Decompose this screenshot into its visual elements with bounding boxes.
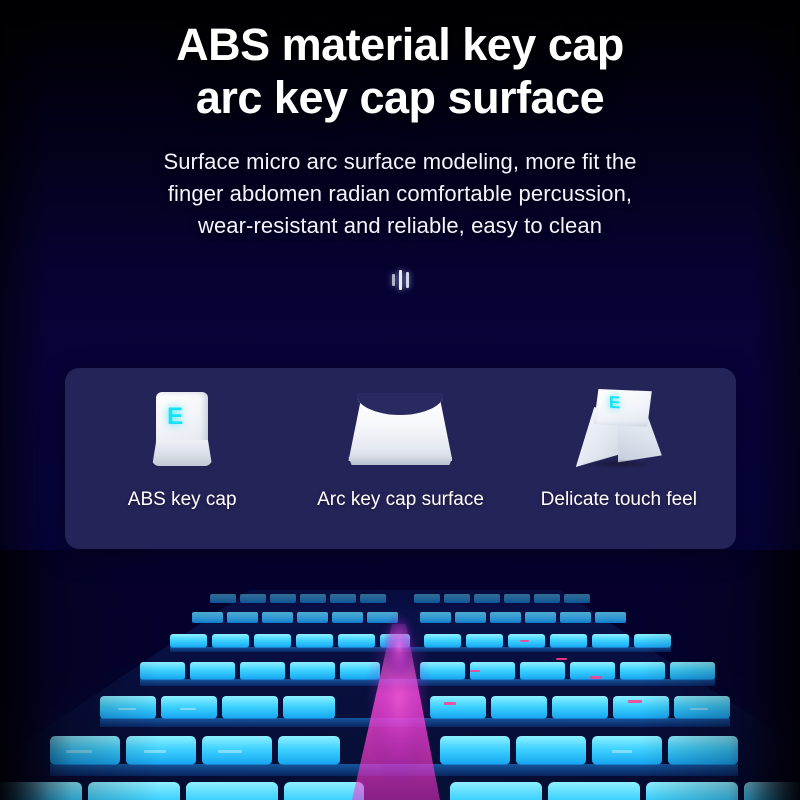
- feature-card: E ABS key cap Arc key cap surface: [65, 368, 736, 549]
- subtitle-line-3: wear-resistant and reliable, easy to cle…: [0, 210, 800, 242]
- feature-item-abs-key-cap: E ABS key cap: [73, 386, 291, 535]
- keycap-skirt: [152, 440, 212, 466]
- feature-label: Arc key cap surface: [317, 488, 484, 512]
- feature-item-arc-key-cap-surface: Arc key cap surface: [291, 386, 509, 535]
- promo-page: ABS material key cap arc key cap surface…: [0, 0, 800, 800]
- subtitle-line-1: Surface micro arc surface modeling, more…: [0, 146, 800, 178]
- three-bars-separator-icon: [383, 268, 417, 292]
- title-line-2: arc key cap surface: [0, 71, 800, 124]
- feature-label: ABS key cap: [128, 488, 237, 512]
- keycap-legend: E: [609, 394, 620, 412]
- separator-bar-1: [392, 274, 395, 286]
- hero-section: ABS material key cap arc key cap surface…: [0, 0, 800, 242]
- keycap-perspective-with-E-legend-icon: E: [510, 386, 728, 472]
- keycap-shadow: [580, 459, 656, 469]
- keyboard-photo: [0, 550, 800, 800]
- keycap-arc-surface-elevation-icon: [291, 386, 509, 472]
- page-title: ABS material key cap arc key cap surface: [0, 18, 800, 124]
- page-subtitle: Surface micro arc surface modeling, more…: [0, 146, 800, 242]
- separator-bar-2: [399, 270, 402, 290]
- separator-bar-3: [406, 272, 409, 288]
- subtitle-line-2: finger abdomen radian comfortable percus…: [0, 178, 800, 210]
- feature-label: Delicate touch feel: [541, 488, 697, 512]
- title-line-1: ABS material key cap: [0, 18, 800, 71]
- keycap-front-white-with-E-legend-icon: E: [73, 386, 291, 472]
- feature-item-delicate-touch-feel: E Delicate touch feel: [510, 386, 728, 535]
- keyboard-photo-svg: [0, 550, 800, 800]
- keycap-top-face: [594, 389, 652, 427]
- keycap-base: [348, 457, 452, 465]
- keycap-legend: E: [167, 405, 183, 429]
